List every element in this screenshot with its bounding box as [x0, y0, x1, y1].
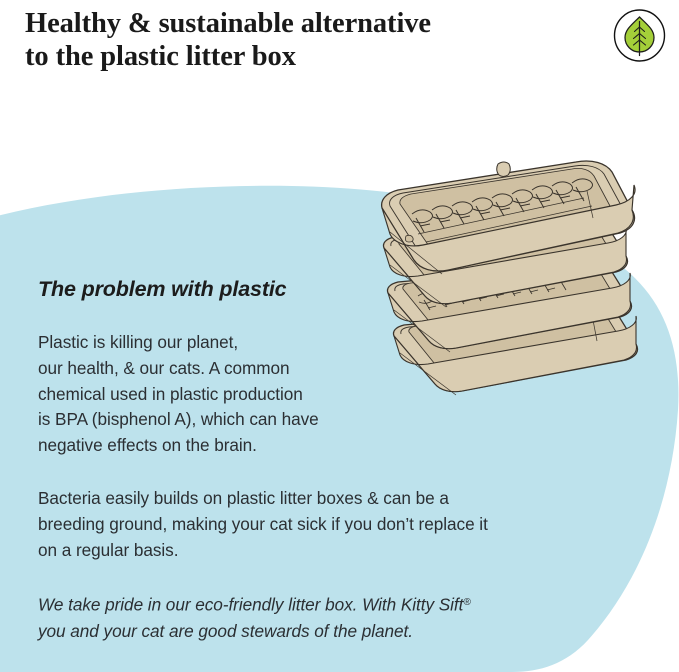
paragraph-closing: We take pride in our eco-friendly litter…: [38, 590, 558, 644]
closing-prefix: We take pride in our eco-friendly litter…: [38, 595, 463, 615]
paragraph-problem: Plastic is killing our planet, our healt…: [38, 330, 558, 459]
tray-handle-notch: [497, 162, 511, 177]
copy-block: The problem with plastic Plastic is kill…: [38, 276, 558, 644]
leaf-in-circle-icon: [613, 9, 666, 62]
closing-suffix: you and your cat are good stewards of th…: [38, 621, 413, 641]
section-subhead: The problem with plastic: [38, 276, 558, 302]
header: Healthy & sustainable alternative to the…: [0, 0, 679, 90]
registered-trademark-mark: ®: [463, 597, 470, 608]
infographic-root: Healthy & sustainable alternative to the…: [0, 0, 679, 672]
paragraph-bacteria: Bacteria easily builds on plastic litter…: [38, 486, 558, 563]
page-title: Healthy & sustainable alternative to the…: [25, 7, 570, 73]
